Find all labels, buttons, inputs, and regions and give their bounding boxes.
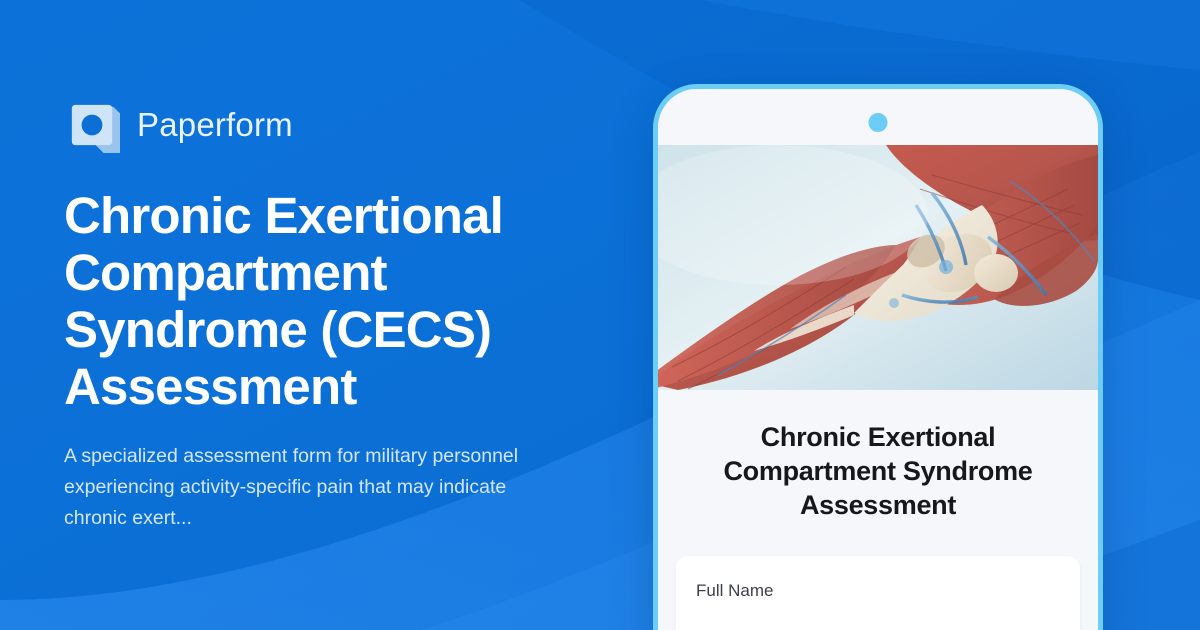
form-field-full-name[interactable]: Full Name [676, 556, 1080, 630]
brand-name: Paperform [137, 106, 293, 144]
field-label-full-name: Full Name [696, 581, 1060, 601]
anatomical-arm-muscles-illustration [658, 145, 1098, 390]
phone-bezel [658, 89, 1098, 145]
form-area: Chronic Exertional Compartment Syndrome … [658, 390, 1098, 630]
brand-lockup: Paperform [64, 97, 624, 153]
paperform-octagram-icon [64, 97, 120, 153]
camera-dot-icon [869, 113, 888, 132]
hero-text-column: Paperform Chronic Exertional Compartment… [64, 0, 624, 630]
page-title: Chronic Exertional Compartment Syndrome … [64, 187, 534, 415]
phone-mockup: Chronic Exertional Compartment Syndrome … [653, 84, 1103, 630]
page-description: A specialized assessment form for milita… [64, 441, 564, 533]
form-title: Chronic Exertional Compartment Syndrome … [676, 420, 1080, 522]
phone-screen: Chronic Exertional Compartment Syndrome … [658, 89, 1098, 630]
